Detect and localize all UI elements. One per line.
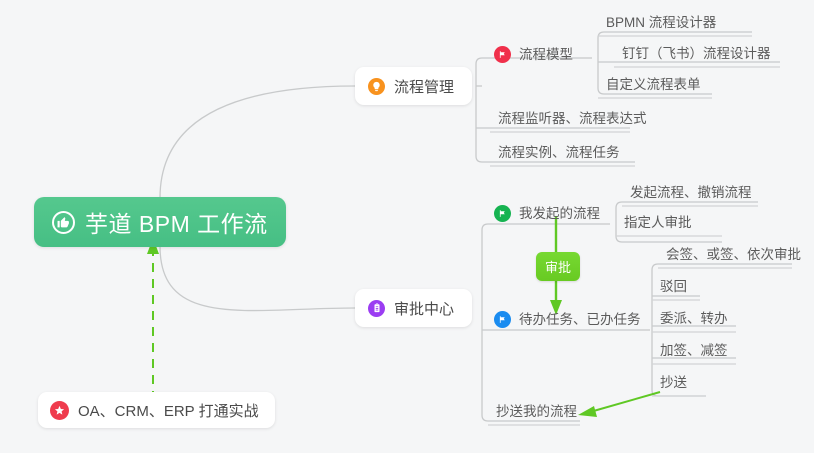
flag-icon xyxy=(494,205,511,222)
node-label: BPMN 流程设计器 xyxy=(606,11,716,31)
node-label: 我发起的流程 xyxy=(519,202,600,222)
root-label: 芋道 BPM 工作流 xyxy=(85,205,268,239)
node-process-instance[interactable]: 流程实例、流程任务 xyxy=(492,138,627,164)
branch-process-management[interactable]: 流程管理 xyxy=(355,67,472,105)
node-process-model[interactable]: 流程模型 xyxy=(490,40,580,66)
node-label: 抄送我的流程 xyxy=(496,400,577,420)
node-label: 流程监听器、流程表达式 xyxy=(498,107,647,127)
footnote-node[interactable]: OA、CRM、ERP 打通实战 xyxy=(38,392,275,428)
branch-label: 流程管理 xyxy=(394,76,454,97)
node-cc[interactable]: 抄送 xyxy=(654,368,694,394)
node-label: 流程模型 xyxy=(519,43,573,63)
node-label: 发起流程、撤销流程 xyxy=(630,181,752,201)
thumbs-up-icon xyxy=(52,211,75,234)
node-custom-form[interactable]: 自定义流程表单 xyxy=(600,70,708,96)
node-cc-to-me[interactable]: 抄送我的流程 xyxy=(490,397,584,423)
arrow-cc-to-ccmine xyxy=(590,392,660,412)
flag-icon xyxy=(494,46,511,63)
node-dingtalk-designer[interactable]: 钉钉（飞书）流程设计器 xyxy=(616,39,778,65)
node-label: 加签、减签 xyxy=(660,339,728,359)
branch-label: 审批中心 xyxy=(394,298,454,319)
node-label: 驳回 xyxy=(660,275,687,295)
node-add-remove-sign[interactable]: 加签、减签 xyxy=(654,336,735,362)
node-countersign[interactable]: 会签、或签、依次审批 xyxy=(660,240,808,266)
node-process-listener[interactable]: 流程监听器、流程表达式 xyxy=(492,104,654,130)
branch-approval-center[interactable]: 审批中心 xyxy=(355,289,472,327)
node-reject[interactable]: 驳回 xyxy=(654,272,694,298)
node-label: 待办任务、已办任务 xyxy=(519,308,641,328)
node-delegate-transfer[interactable]: 委派、转办 xyxy=(654,304,735,330)
node-label: 会签、或签、依次审批 xyxy=(666,243,801,263)
flag-icon xyxy=(494,311,511,328)
root-node[interactable]: 芋道 BPM 工作流 xyxy=(34,197,286,247)
node-start-cancel-process[interactable]: 发起流程、撤销流程 xyxy=(624,178,759,204)
clipboard-icon xyxy=(368,300,385,317)
node-label: 委派、转办 xyxy=(660,307,728,327)
node-my-started-processes[interactable]: 我发起的流程 xyxy=(490,199,607,225)
node-label: 自定义流程表单 xyxy=(606,73,701,93)
node-bpmn-designer[interactable]: BPMN 流程设计器 xyxy=(600,8,723,34)
node-label: 流程实例、流程任务 xyxy=(498,141,620,161)
node-assignee-approve[interactable]: 指定人审批 xyxy=(618,208,699,234)
footnote-label: OA、CRM、ERP 打通实战 xyxy=(78,400,259,421)
node-label: 指定人审批 xyxy=(624,211,692,231)
lightbulb-icon xyxy=(368,78,385,95)
star-icon xyxy=(50,401,69,420)
edge-root-to-approval xyxy=(160,246,355,311)
approval-badge[interactable]: 审批 xyxy=(536,252,580,281)
edge-root-to-process xyxy=(160,86,355,198)
node-label: 抄送 xyxy=(660,371,687,391)
mindmap-canvas: 芋道 BPM 工作流 流程管理 流程模型 BPMN 流程设计器 钉钉（飞书）流程… xyxy=(0,0,814,453)
node-label: 钉钉（飞书）流程设计器 xyxy=(622,42,771,62)
node-todo-done-tasks[interactable]: 待办任务、已办任务 xyxy=(490,305,648,331)
